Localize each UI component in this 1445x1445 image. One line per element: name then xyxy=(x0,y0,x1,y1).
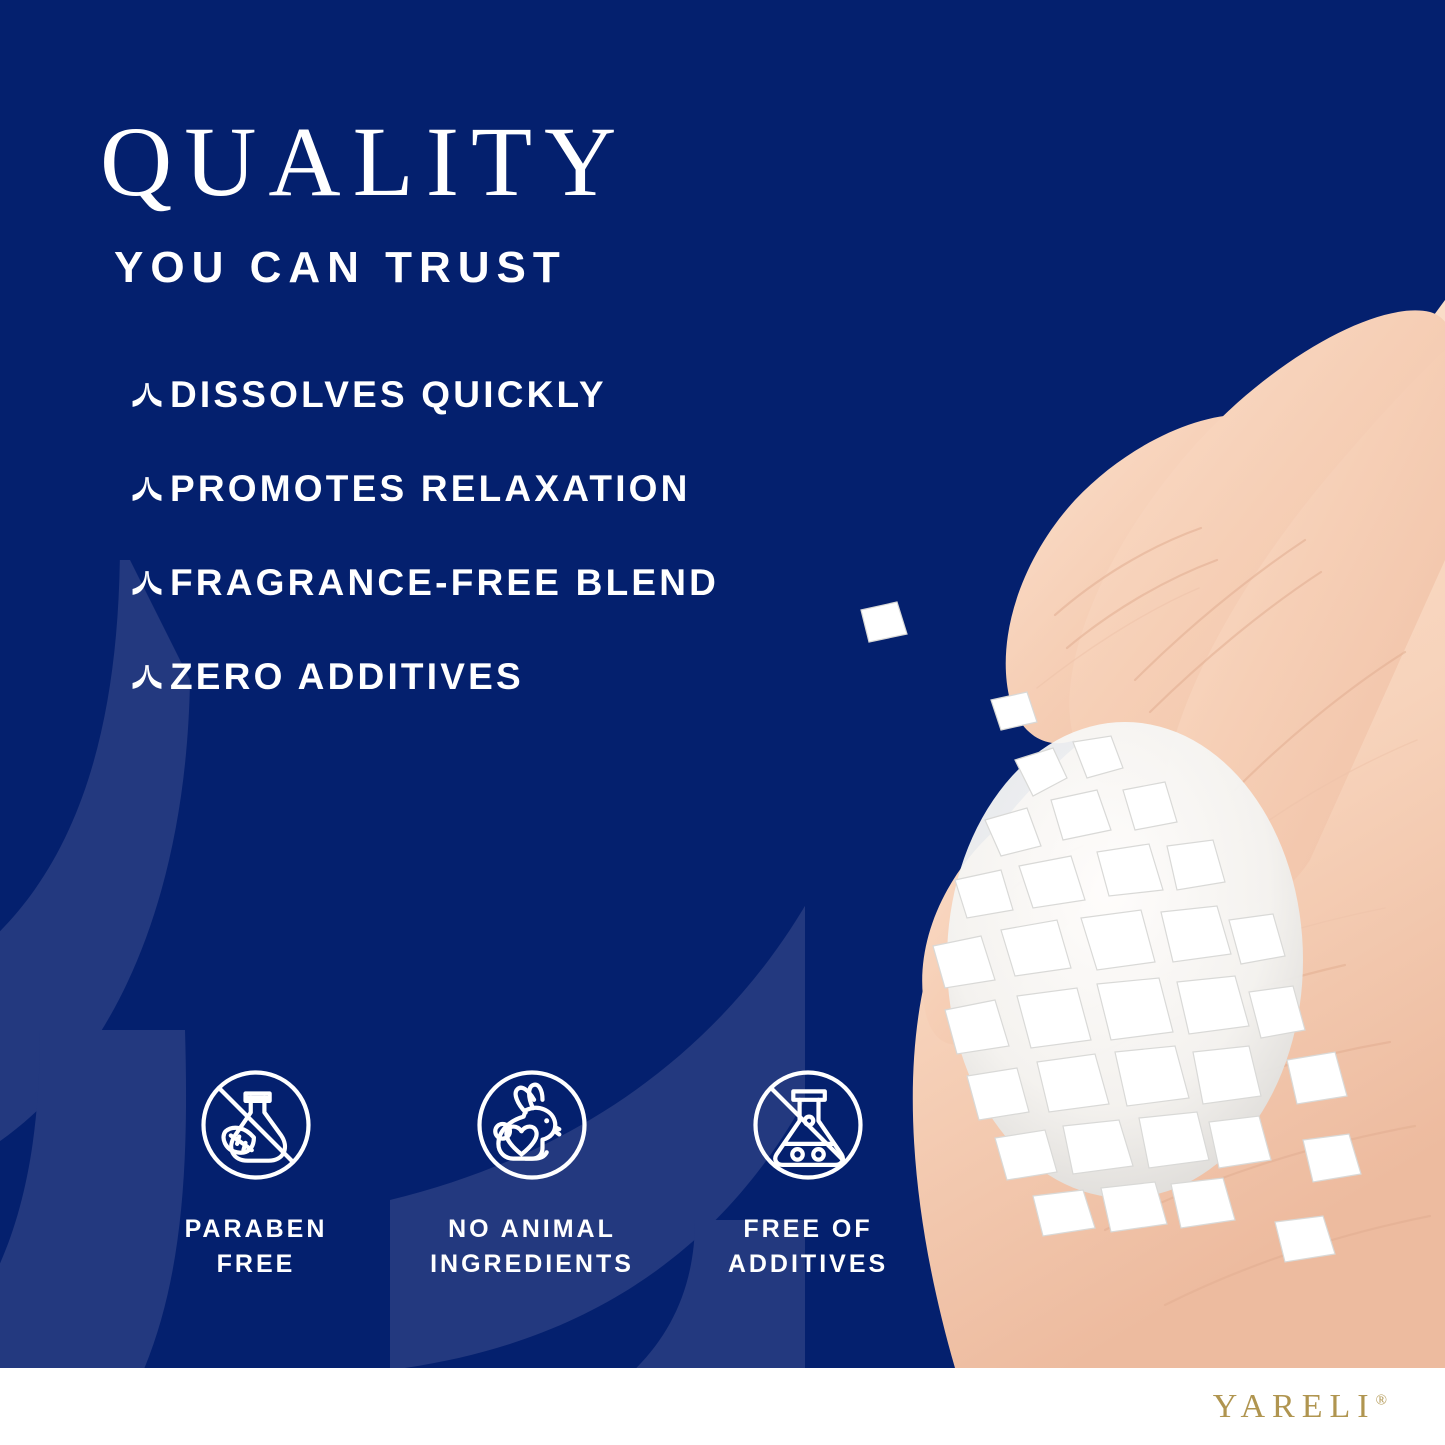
page-title: QUALITY xyxy=(100,112,628,212)
list-item: PROMOTES RELAXATION xyxy=(130,442,890,536)
hero-panel: QUALITY YOU CAN TRUST DISSOLVES QUICKLY xyxy=(0,0,1445,1368)
badge-paraben-free: PARABEN FREE xyxy=(118,1062,394,1281)
double-crescent-emblem-icon xyxy=(130,566,164,600)
trademark-symbol: ® xyxy=(1376,1392,1387,1408)
trust-badges-row: PARABEN FREE xyxy=(118,1062,948,1281)
benefits-list: DISSOLVES QUICKLY PROMOTES RELAXATION xyxy=(130,348,890,724)
benefit-label: DISSOLVES QUICKLY xyxy=(170,374,607,416)
badge-label: PARABEN FREE xyxy=(185,1212,328,1281)
brand-wordmark: YARELI® xyxy=(1213,1388,1387,1426)
footer-bar: YARELI® xyxy=(0,1368,1445,1445)
rabbit-heart-cruelty-free-icon xyxy=(469,1062,595,1188)
brand-name: YARELI xyxy=(1213,1388,1376,1425)
page-subtitle: YOU CAN TRUST xyxy=(114,243,567,293)
benefit-label: FRAGRANCE-FREE BLEND xyxy=(170,562,719,604)
double-crescent-emblem-icon xyxy=(130,660,164,694)
badge-label: FREE OF ADDITIVES xyxy=(728,1212,888,1281)
list-item: DISSOLVES QUICKLY xyxy=(130,348,890,442)
benefit-label: PROMOTES RELAXATION xyxy=(170,468,691,510)
badge-no-animal-ingredients: NO ANIMAL INGREDIENTS xyxy=(394,1062,670,1281)
double-crescent-emblem-icon xyxy=(130,378,164,412)
list-item: ZERO ADDITIVES xyxy=(130,630,890,724)
no-paraben-flask-leaf-icon xyxy=(193,1062,319,1188)
no-additives-flask-icon xyxy=(745,1062,871,1188)
product-infographic-page: QUALITY YOU CAN TRUST DISSOLVES QUICKLY xyxy=(0,0,1445,1445)
double-crescent-emblem-icon xyxy=(130,472,164,506)
list-item: FRAGRANCE-FREE BLEND xyxy=(130,536,890,630)
badge-label: NO ANIMAL INGREDIENTS xyxy=(430,1212,634,1281)
benefit-label: ZERO ADDITIVES xyxy=(170,656,524,698)
badge-free-of-additives: FREE OF ADDITIVES xyxy=(670,1062,946,1281)
